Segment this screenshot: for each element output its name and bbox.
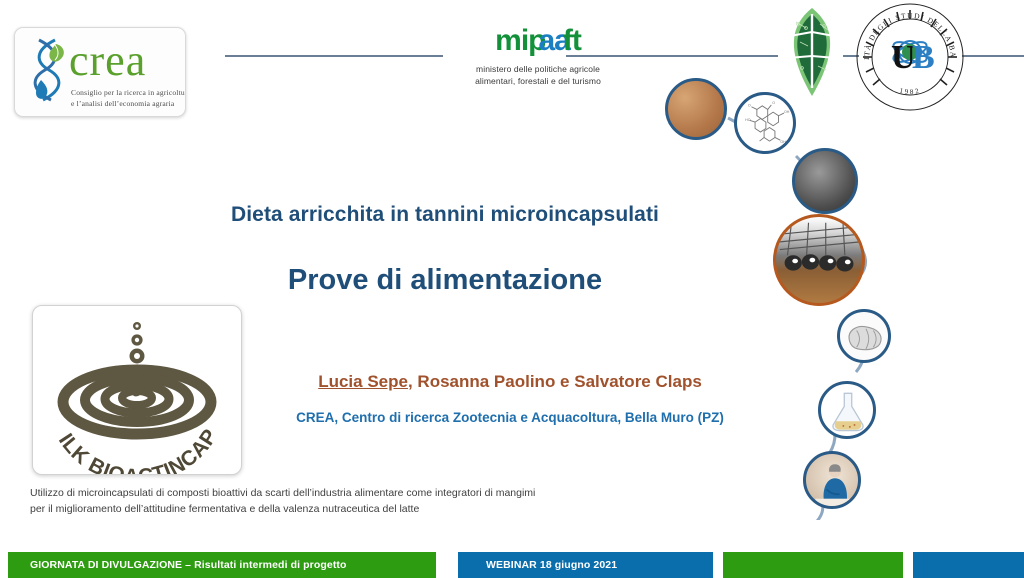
lead-author: Lucia Sepe (318, 372, 408, 391)
footer-block-webinar: WEBINAR 18 giugno 2021 (458, 552, 713, 578)
svg-text:OH: OH (784, 110, 790, 114)
footer-block-event: GIORNATA DI DIVULGAZIONE – Risultati int… (8, 552, 436, 578)
chain-circle-lab-technician (803, 451, 861, 509)
mipaaft-wordmark: mipaaft (440, 26, 636, 56)
chain-circle-rumen-diagram (837, 309, 891, 363)
coauthors: , Rosanna Paolino e Salvatore Claps (408, 372, 702, 391)
crea-logo: crea Consiglio per la ricerca in agricol… (14, 27, 186, 117)
chain-circle-microcapsules (792, 148, 858, 214)
mipaaft-tagline-2: alimentari, forestali e del turismo (440, 75, 636, 87)
svg-text:B: B (912, 39, 935, 76)
crea-wordmark: crea (69, 38, 146, 84)
lab-technician-illustration (806, 454, 860, 508)
mipaaft-logo: mipaaft ministero delle politiche agrico… (440, 26, 636, 92)
footer-bar: GIORNATA DI DIVULGAZIONE – Risultati int… (0, 552, 1024, 578)
chain-circle-cattle-barn (773, 214, 865, 306)
header-rule-left (225, 55, 443, 57)
footer-block-blue-spacer (913, 552, 1024, 578)
milk-drop-ripple-icon: MILK BIOACTINCAPS (33, 306, 241, 474)
dna-helix-leaf-droplet-icon (25, 36, 69, 106)
chain-circle-chemical-structure: OOOH HOOH (734, 92, 796, 154)
svg-text:OH: OH (780, 140, 786, 144)
tannin-molecule-icon: OOOH HOOH (737, 95, 793, 151)
header-rule-right-b (962, 55, 1024, 57)
chain-circle-tannin-powder (665, 78, 727, 140)
chain-circle-fermentation-flask (818, 381, 876, 439)
project-abstract: Utilizzo di microincapsulati di composti… (30, 485, 550, 517)
crea-tagline-1: Consiglio per la ricerca in agricoltura (71, 88, 186, 97)
milk-bioactincaps-logo: MILK BIOACTINCAPS (32, 305, 242, 475)
crea-word-main: crea (69, 36, 146, 85)
mipaaft-tagline-1: ministero delle politiche agricole (440, 63, 636, 75)
presentation-slide: crea Consiglio per la ricerca in agricol… (0, 0, 1024, 578)
svg-text:HO: HO (745, 118, 751, 122)
svg-text:O: O (748, 104, 751, 108)
crea-tagline-2: e l’analisi dell’economia agraria (71, 99, 174, 108)
mipaaft-word-end: ft (563, 24, 581, 57)
footer-block-green-spacer (723, 552, 903, 578)
svg-text:O: O (772, 101, 775, 105)
rumen-anatomy-icon (840, 312, 890, 362)
cattle-in-barn-illustration (776, 217, 864, 305)
flask-icon (821, 384, 875, 438)
